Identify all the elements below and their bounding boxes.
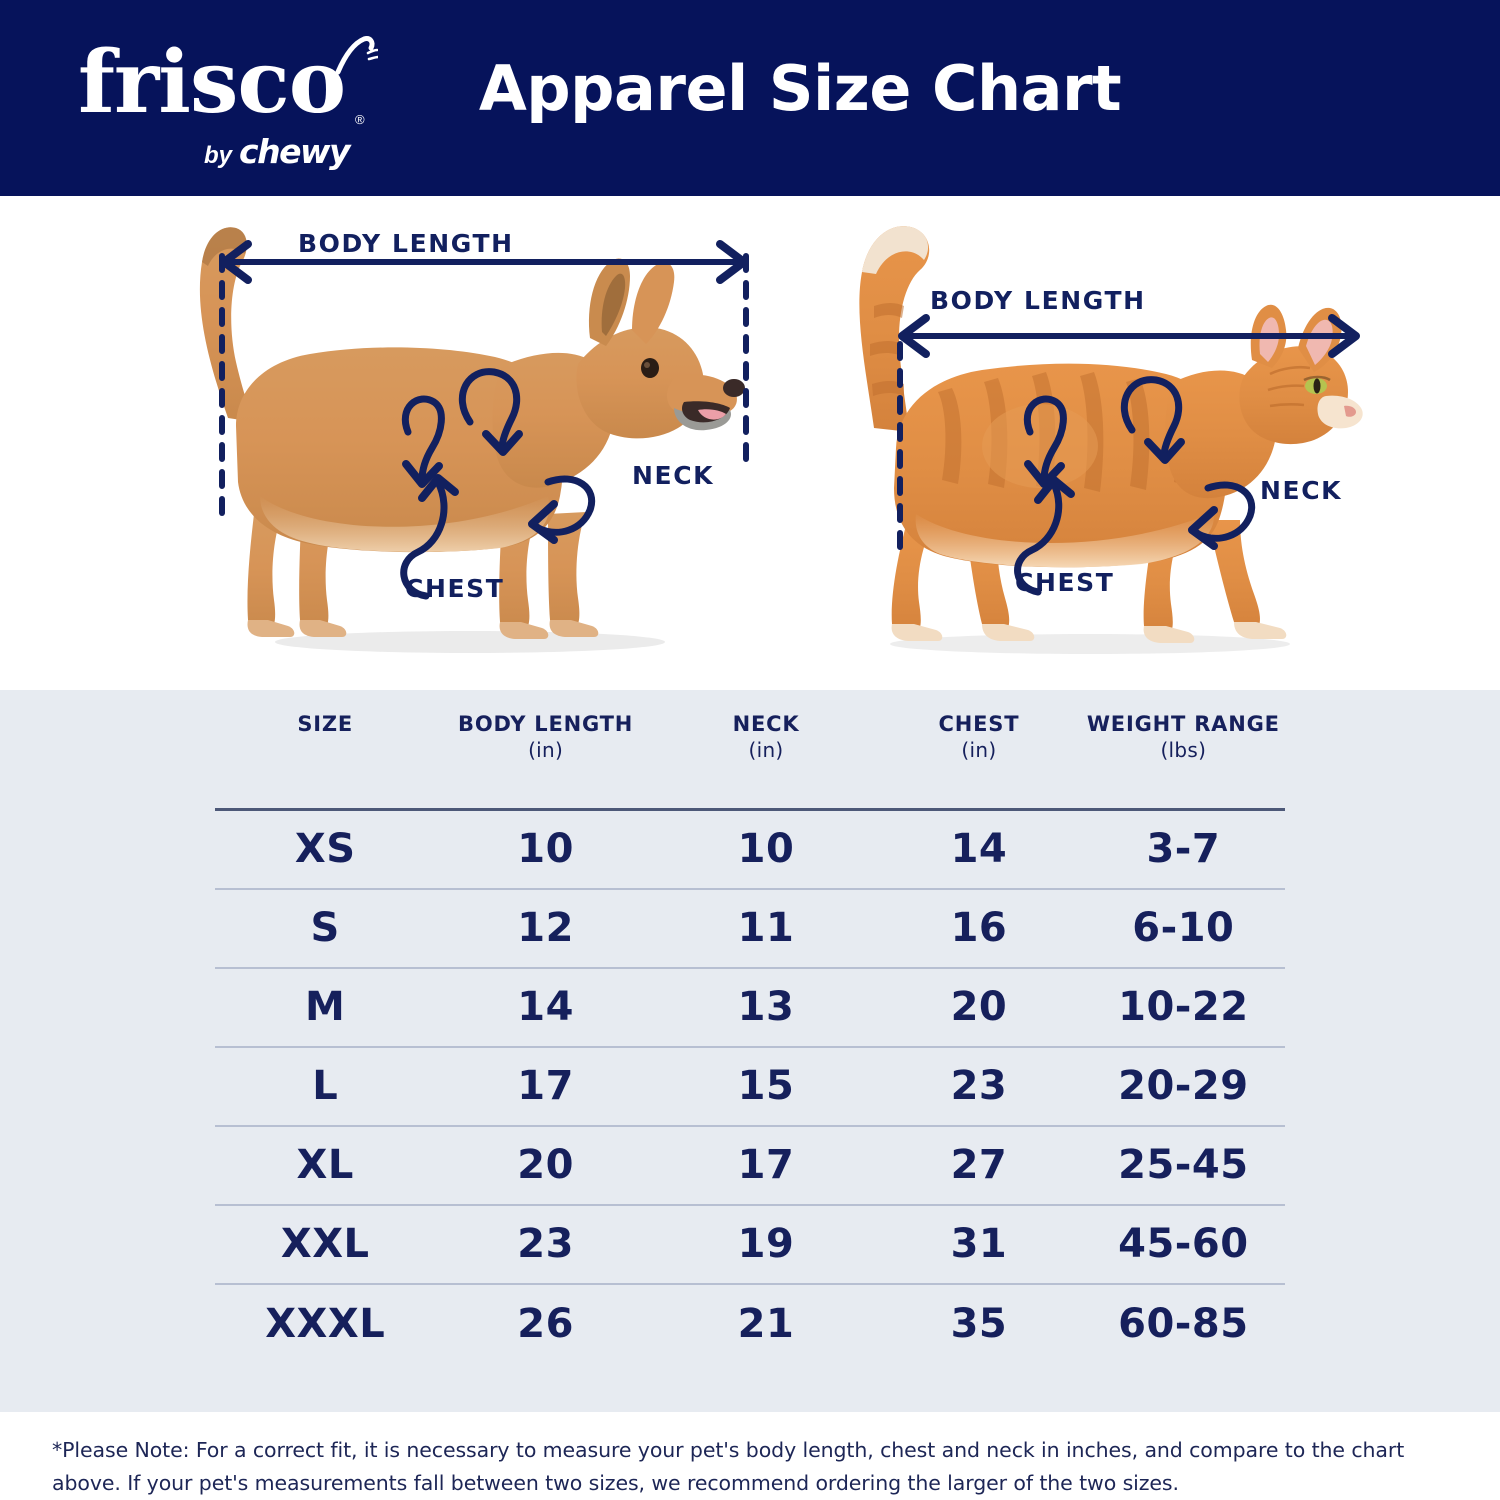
- cell-chest: 16: [876, 889, 1081, 968]
- size-table-header: SIZE BODY LENGTH (in) NECK (in) CHEST (i…: [215, 712, 1285, 810]
- column-header-body-length-unit: (in): [435, 738, 655, 762]
- table-row: XXL 23 19 31 45-60: [215, 1205, 1285, 1284]
- dog-chest-label: CHEST: [405, 574, 504, 603]
- header-bar: frisco ® by chewy Apparel Size Chart: [0, 0, 1500, 196]
- size-table-body: XS 10 10 14 3-7 S 12 11 16 6-10 M 14 13: [215, 810, 1285, 1363]
- cell-weight-range: 25-45: [1082, 1126, 1285, 1205]
- cat-neck-label: NECK: [1260, 476, 1342, 505]
- apparel-size-chart-page: frisco ® by chewy Apparel Size Chart: [0, 0, 1500, 1500]
- cell-weight-range: 6-10: [1082, 889, 1285, 968]
- footnote-section: *Please Note: For a correct fit, it is n…: [0, 1412, 1500, 1500]
- size-table-section: SIZE BODY LENGTH (in) NECK (in) CHEST (i…: [0, 690, 1500, 1412]
- cat-illustration: [770, 196, 1390, 690]
- cell-weight-range: 3-7: [1082, 810, 1285, 889]
- chewy-wordmark: chewy: [239, 132, 349, 171]
- dog-illustration: [150, 196, 770, 690]
- cell-neck: 11: [656, 889, 876, 968]
- cell-weight-range: 45-60: [1082, 1205, 1285, 1284]
- column-header-size: SIZE: [215, 712, 435, 810]
- column-header-chest-label: CHEST: [939, 712, 1020, 736]
- cell-neck: 15: [656, 1047, 876, 1126]
- cell-weight-range: 10-22: [1082, 968, 1285, 1047]
- by-chewy-lockup: by chewy: [204, 132, 349, 171]
- column-header-body-length-label: BODY LENGTH: [458, 712, 633, 736]
- cell-body-length: 26: [435, 1284, 655, 1363]
- table-row: S 12 11 16 6-10: [215, 889, 1285, 968]
- column-header-neck-unit: (in): [656, 738, 876, 762]
- cell-weight-range: 20-29: [1082, 1047, 1285, 1126]
- cell-neck: 21: [656, 1284, 876, 1363]
- cat-measurement-diagram: BODY LENGTH NECK CHEST: [770, 196, 1390, 690]
- column-header-weight-range-unit: (lbs): [1082, 738, 1285, 762]
- cell-body-length: 23: [435, 1205, 655, 1284]
- cell-body-length: 17: [435, 1047, 655, 1126]
- size-table: SIZE BODY LENGTH (in) NECK (in) CHEST (i…: [215, 712, 1285, 1363]
- dog-body-length-label: BODY LENGTH: [298, 229, 514, 258]
- table-row: M 14 13 20 10-22: [215, 968, 1285, 1047]
- cell-neck: 19: [656, 1205, 876, 1284]
- column-header-chest: CHEST (in): [876, 712, 1081, 810]
- cell-chest: 27: [876, 1126, 1081, 1205]
- footnote-text: *Please Note: For a correct fit, it is n…: [52, 1434, 1452, 1500]
- cell-chest: 35: [876, 1284, 1081, 1363]
- table-row: XL 20 17 27 25-45: [215, 1126, 1285, 1205]
- illustration-band: BODY LENGTH NECK CHEST: [0, 196, 1500, 690]
- cell-chest: 20: [876, 968, 1081, 1047]
- table-row: XXXL 26 21 35 60-85: [215, 1284, 1285, 1363]
- page-title: Apparel Size Chart: [0, 52, 1500, 125]
- cell-size: XXXL: [215, 1284, 435, 1363]
- table-row: XS 10 10 14 3-7: [215, 810, 1285, 889]
- dog-measurement-diagram: BODY LENGTH NECK CHEST: [150, 196, 770, 690]
- cell-body-length: 12: [435, 889, 655, 968]
- column-header-body-length: BODY LENGTH (in): [435, 712, 655, 810]
- cell-body-length: 14: [435, 968, 655, 1047]
- table-row: L 17 15 23 20-29: [215, 1047, 1285, 1126]
- cell-size: XS: [215, 810, 435, 889]
- column-header-size-label: SIZE: [297, 712, 353, 736]
- cell-chest: 14: [876, 810, 1081, 889]
- cell-body-length: 20: [435, 1126, 655, 1205]
- by-label: by: [204, 142, 232, 170]
- cell-neck: 10: [656, 810, 876, 889]
- cell-size: XXL: [215, 1205, 435, 1284]
- column-header-neck: NECK (in): [656, 712, 876, 810]
- cell-chest: 31: [876, 1205, 1081, 1284]
- column-header-weight-range-label: WEIGHT RANGE: [1087, 712, 1280, 736]
- column-header-chest-unit: (in): [876, 738, 1081, 762]
- cat-chest-label: CHEST: [1015, 568, 1114, 597]
- cell-size: XL: [215, 1126, 435, 1205]
- cell-size: M: [215, 968, 435, 1047]
- cell-chest: 23: [876, 1047, 1081, 1126]
- cell-size: L: [215, 1047, 435, 1126]
- column-header-weight-range: WEIGHT RANGE (lbs): [1082, 712, 1285, 810]
- cell-weight-range: 60-85: [1082, 1284, 1285, 1363]
- column-header-neck-label: NECK: [733, 712, 800, 736]
- cell-neck: 13: [656, 968, 876, 1047]
- cell-neck: 17: [656, 1126, 876, 1205]
- cell-size: S: [215, 889, 435, 968]
- dog-neck-label: NECK: [632, 461, 714, 490]
- cell-body-length: 10: [435, 810, 655, 889]
- header-row: SIZE BODY LENGTH (in) NECK (in) CHEST (i…: [215, 712, 1285, 810]
- cat-body-length-label: BODY LENGTH: [930, 286, 1146, 315]
